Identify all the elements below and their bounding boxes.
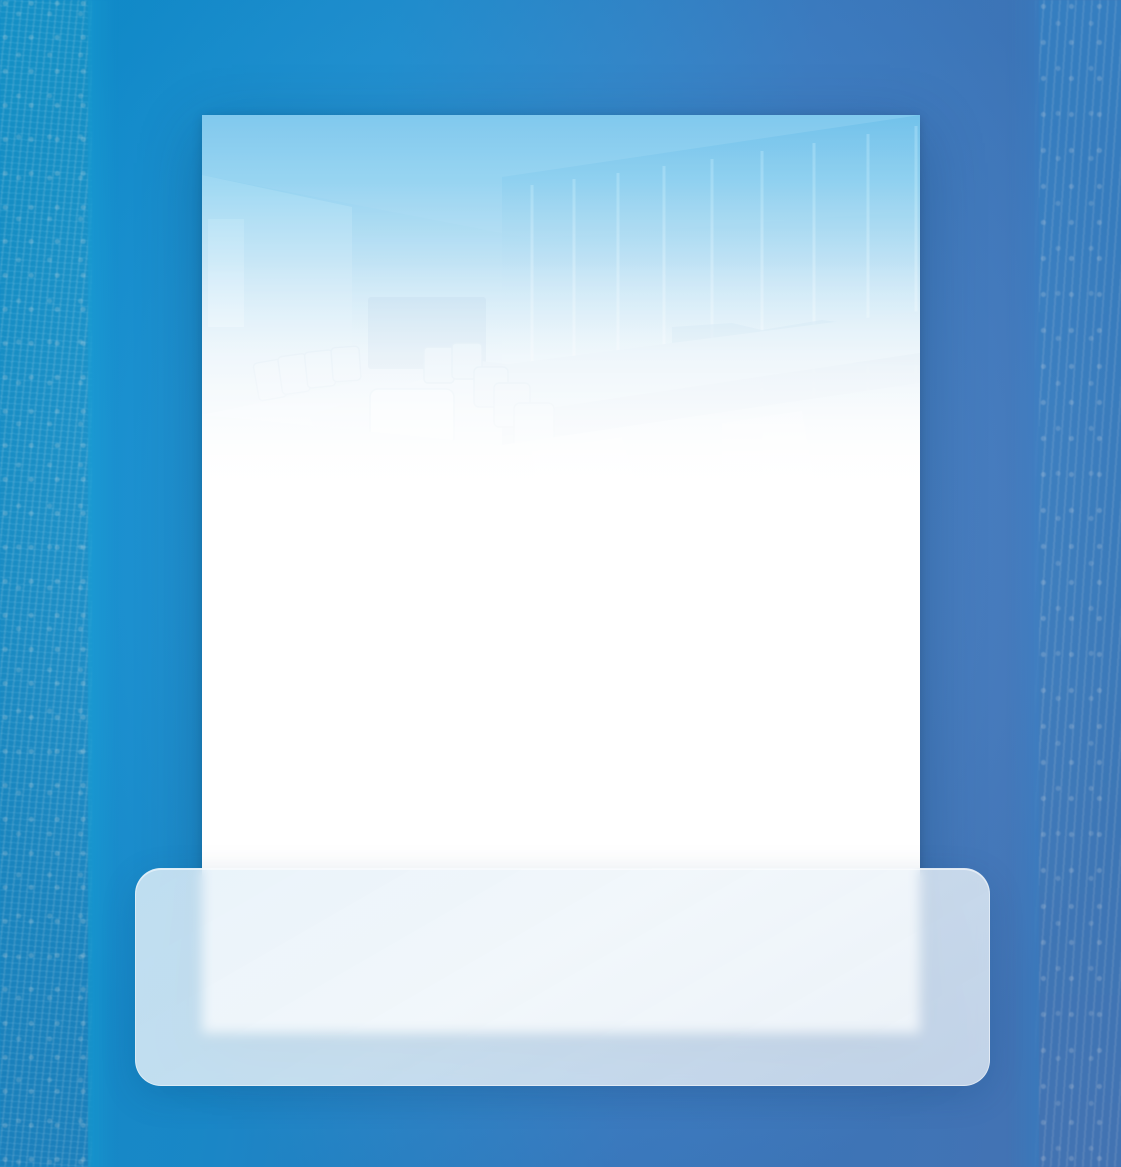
tagline-card [135, 868, 990, 1086]
calendar-grid-area [202, 490, 920, 512]
poster-hero [202, 115, 920, 490]
hero-fade-overlay [202, 115, 920, 490]
